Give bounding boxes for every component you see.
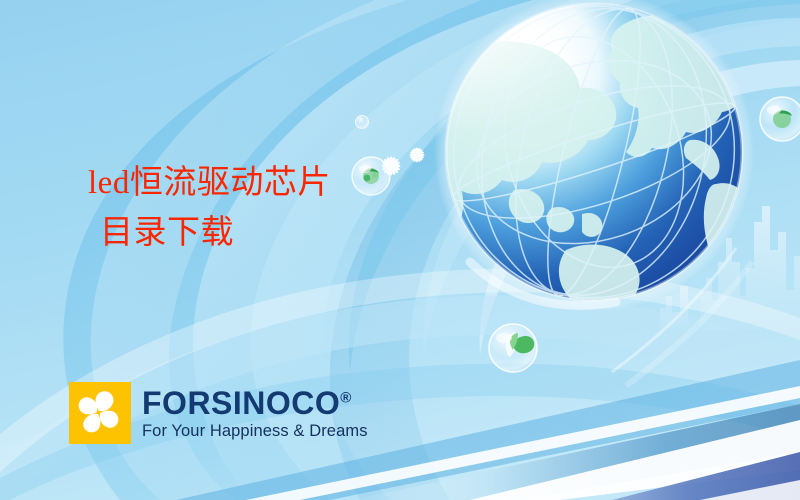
four-petal-pinwheel-icon [69, 382, 131, 444]
headline-line-2: 目录下载 [88, 213, 331, 253]
logo-wordmark-text: FORSINOCO [142, 385, 340, 421]
company-logo[interactable]: FORSINOCO® For Your Happiness & Dreams [69, 382, 368, 444]
headline-line-1: led恒流驱动芯片 [88, 163, 331, 203]
logo-wordmark: FORSINOCO® [142, 387, 368, 419]
bubble-leaf-icon [489, 324, 537, 372]
logo-text-block: FORSINOCO® For Your Happiness & Dreams [142, 387, 368, 440]
headline-block: led恒流驱动芯片 目录下载 [88, 163, 331, 254]
bubble-globe-icon [760, 97, 800, 141]
logo-tagline: For Your Happiness & Dreams [142, 423, 368, 440]
bubble-globe-icon [352, 157, 390, 195]
small-bubble-icon [356, 116, 369, 129]
registered-trademark-icon: ® [340, 389, 352, 406]
promo-banner: led恒流驱动芯片 目录下载 FORSINOCO® For Your Happi… [0, 0, 800, 500]
